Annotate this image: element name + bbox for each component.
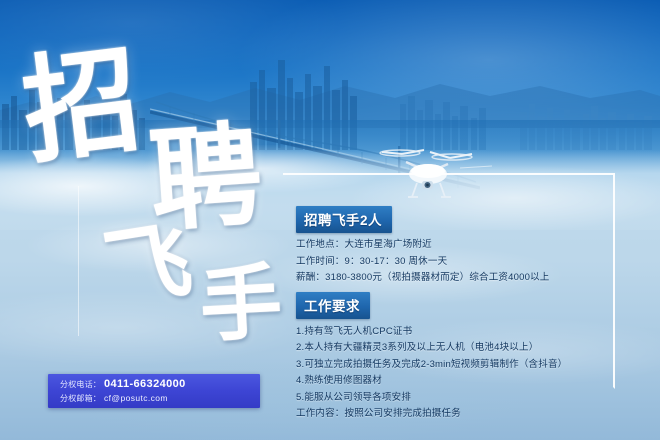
contact-email-label: 分权邮箱： [60, 393, 101, 404]
job-detail-hours: 工作时间：9：30-17：30 周休一天 [296, 257, 626, 267]
contact-bar: 分权电话： 0411-66324000 分权邮箱： cf@posutc.com [48, 374, 260, 408]
contact-email-value[interactable]: cf@posutc.com [104, 393, 168, 403]
requirement-item: 5.能服从公司领导各项安排 [296, 393, 626, 403]
decorative-hairline [78, 186, 79, 336]
content-panel: 招聘飞手2人 工作地点：大连市星海广场附近 工作时间：9：30-17：30 周休… [296, 206, 626, 419]
requirement-item: 4.熟练使用修图器材 [296, 376, 626, 386]
requirement-item: 1.持有驾飞无人机CPC证书 [296, 327, 626, 337]
contact-email-row: 分权邮箱： cf@posutc.com [48, 390, 260, 404]
contact-phone-value[interactable]: 0411-66324000 [104, 378, 186, 390]
requirements-list: 1.持有驾飞无人机CPC证书 2.本人持有大疆精灵3系列及以上无人机（电池4块以… [296, 327, 626, 403]
job-detail-salary: 薪酬：3180-3800元（视拍摄器材而定）综合工资4000以上 [296, 273, 626, 283]
contact-phone-row: 分权电话： 0411-66324000 [48, 374, 260, 390]
job-content-footer: 工作内容：按照公司安排完成拍摄任务 [296, 409, 626, 419]
recruitment-poster: 招 聘 飞 手 [0, 0, 660, 440]
quadcopter-drone-icon [372, 140, 492, 210]
requirement-item: 3.可独立完成拍摄任务及完成2-3min短视频剪辑制作（含抖音） [296, 360, 626, 370]
job-banner: 招聘飞手2人 [296, 206, 392, 233]
job-detail-location: 工作地点：大连市星海广场附近 [296, 240, 626, 250]
requirement-item: 2.本人持有大疆精灵3系列及以上无人机（电池4块以上） [296, 343, 626, 353]
requirements-banner: 工作要求 [296, 292, 370, 319]
contact-phone-label: 分权电话： [60, 379, 101, 390]
